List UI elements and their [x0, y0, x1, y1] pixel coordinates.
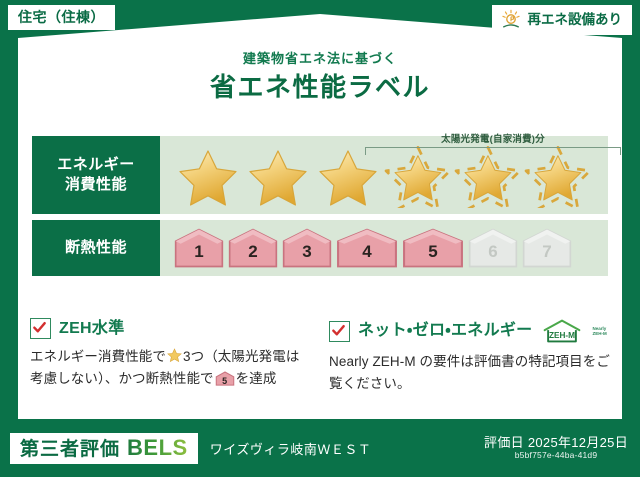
performance-panel: エネルギー 消費性能 太陽光発電(自家消費)分 断熱性能 1234567: [32, 136, 608, 276]
insulation-level-badge: 7: [522, 227, 572, 269]
insulation-label-text: 断熱性能: [65, 238, 127, 258]
bels-logo-text: BELS: [127, 437, 188, 459]
label-card: 住宅（住棟） 再エネ設備あり 建築物省エネ法に基づく 省エネ性能ラベル: [0, 0, 640, 477]
zeh-text-stars: 3つ（太陽光発電: [183, 349, 286, 364]
evaluation-date: 評価日 2025年12月25日: [484, 435, 628, 451]
page-title: 省エネ性能ラベル: [0, 74, 640, 100]
house-type-tag: 住宅（住棟）: [8, 5, 115, 30]
zeh-description: エネルギー消費性能で3つ（太陽光発電は考慮しない）、かつ断熱性能で5を達成: [30, 346, 309, 390]
building-name: ワイズヴィラ岐南ＷＥＳＴ: [210, 439, 372, 458]
energy-performance-label: エネルギー 消費性能: [32, 136, 160, 214]
solar-bracket: [365, 147, 621, 155]
zeh-m-logo-icon: ZEH-M: [541, 318, 583, 344]
star-filled: [174, 146, 242, 208]
net-zero-energy-block: ネット・ゼロ・エネルギー ZEH-M Nearly ZEH-M Nearly Z…: [329, 318, 610, 395]
insulation-level-scale: 1234567: [160, 227, 572, 269]
check-icon: [32, 320, 47, 335]
inline-star-icon: [167, 348, 182, 363]
zeh-checkbox: [30, 318, 51, 339]
star-solar: [384, 146, 452, 208]
zeh-heading: ZEH水準: [30, 318, 309, 339]
nze-title: ネット・ゼロ・エネルギー: [358, 323, 532, 339]
insulation-level-badge: 3: [282, 227, 332, 269]
criteria-section: ZEH水準 エネルギー消費性能で3つ（太陽光発電は考慮しない）、かつ断熱性能で5…: [30, 318, 610, 395]
title-subtitle: 建築物省エネ法に基づく: [0, 52, 640, 65]
solar-note-text: 太陽光発電(自家消費)分: [365, 135, 621, 145]
evaluation-uid: b5bf757e-44ba-41d9: [484, 450, 628, 461]
zeh-title: ZEH水準: [59, 321, 125, 337]
insulation-level-value: 6: [488, 243, 497, 269]
title-block: 建築物省エネ法に基づく 省エネ性能ラベル: [0, 52, 640, 100]
zeh-m-logo-caption: Nearly ZEH-M: [592, 326, 606, 336]
nze-heading: ネット・ゼロ・エネルギー ZEH-M Nearly ZEH-M: [329, 318, 610, 344]
insulation-level-badge: 2: [228, 227, 278, 269]
renewable-equipment-badge: 再エネ設備あり: [492, 5, 633, 35]
svg-text:ZEH-M: ZEH-M: [549, 331, 575, 340]
sun-solar-icon: [500, 9, 522, 31]
energy-label-line2: 消費性能: [65, 175, 127, 195]
zeh-criteria-block: ZEH水準 エネルギー消費性能で3つ（太陽光発電は考慮しない）、かつ断熱性能で5…: [30, 318, 309, 395]
energy-label-line1: エネルギー: [57, 155, 135, 175]
insulation-level-value: 5: [428, 243, 437, 269]
insulation-performance-label: 断熱性能: [32, 220, 160, 276]
inline-badge-value: 5: [215, 377, 235, 386]
nze-description: Nearly ZEH-M の要件は評価書の特記項目をご覧ください。: [329, 351, 610, 395]
nze-checkbox: [329, 321, 350, 342]
insulation-level-value: 2: [248, 243, 257, 269]
bels-jp-label: 第三者評価: [20, 440, 120, 459]
insulation-level-badge: 1: [174, 227, 224, 269]
energy-rating-body: 太陽光発電(自家消費)分: [160, 136, 608, 214]
star-filled: [244, 146, 312, 208]
insulation-level-badge: 5: [402, 227, 464, 269]
energy-performance-row: エネルギー 消費性能 太陽光発電(自家消費)分: [32, 136, 608, 214]
zeh-m-caption-line2: ZEH-M: [592, 331, 606, 336]
insulation-rating-body: 1234567: [160, 220, 608, 276]
evaluation-meta: 評価日 2025年12月25日 b5bf757e-44ba-41d9: [484, 435, 628, 462]
insulation-level-badge: 4: [336, 227, 398, 269]
insulation-level-value: 7: [542, 243, 551, 269]
renewable-badge-label: 再エネ設備あり: [528, 13, 623, 27]
zeh-text-part3: を達成: [236, 371, 277, 386]
insulation-level-value: 4: [362, 243, 371, 269]
solar-contribution-annotation: 太陽光発電(自家消費)分: [365, 135, 621, 155]
inline-insulation-badge-icon: 5: [215, 371, 235, 386]
star-filled: [314, 146, 382, 208]
star-solar: [524, 146, 592, 208]
check-icon: [331, 323, 346, 338]
insulation-level-value: 1: [194, 243, 203, 269]
bels-evaluation-badge: 第三者評価 BELS: [10, 433, 198, 464]
insulation-performance-row: 断熱性能 1234567: [32, 220, 608, 276]
insulation-level-value: 3: [302, 243, 311, 269]
footer-bar: 第三者評価 BELS ワイズヴィラ岐南ＷＥＳＴ 評価日 2025年12月25日 …: [0, 419, 640, 477]
insulation-level-badge: 6: [468, 227, 518, 269]
star-solar: [454, 146, 522, 208]
zeh-text-part1: エネルギー消費性能で: [30, 349, 166, 364]
